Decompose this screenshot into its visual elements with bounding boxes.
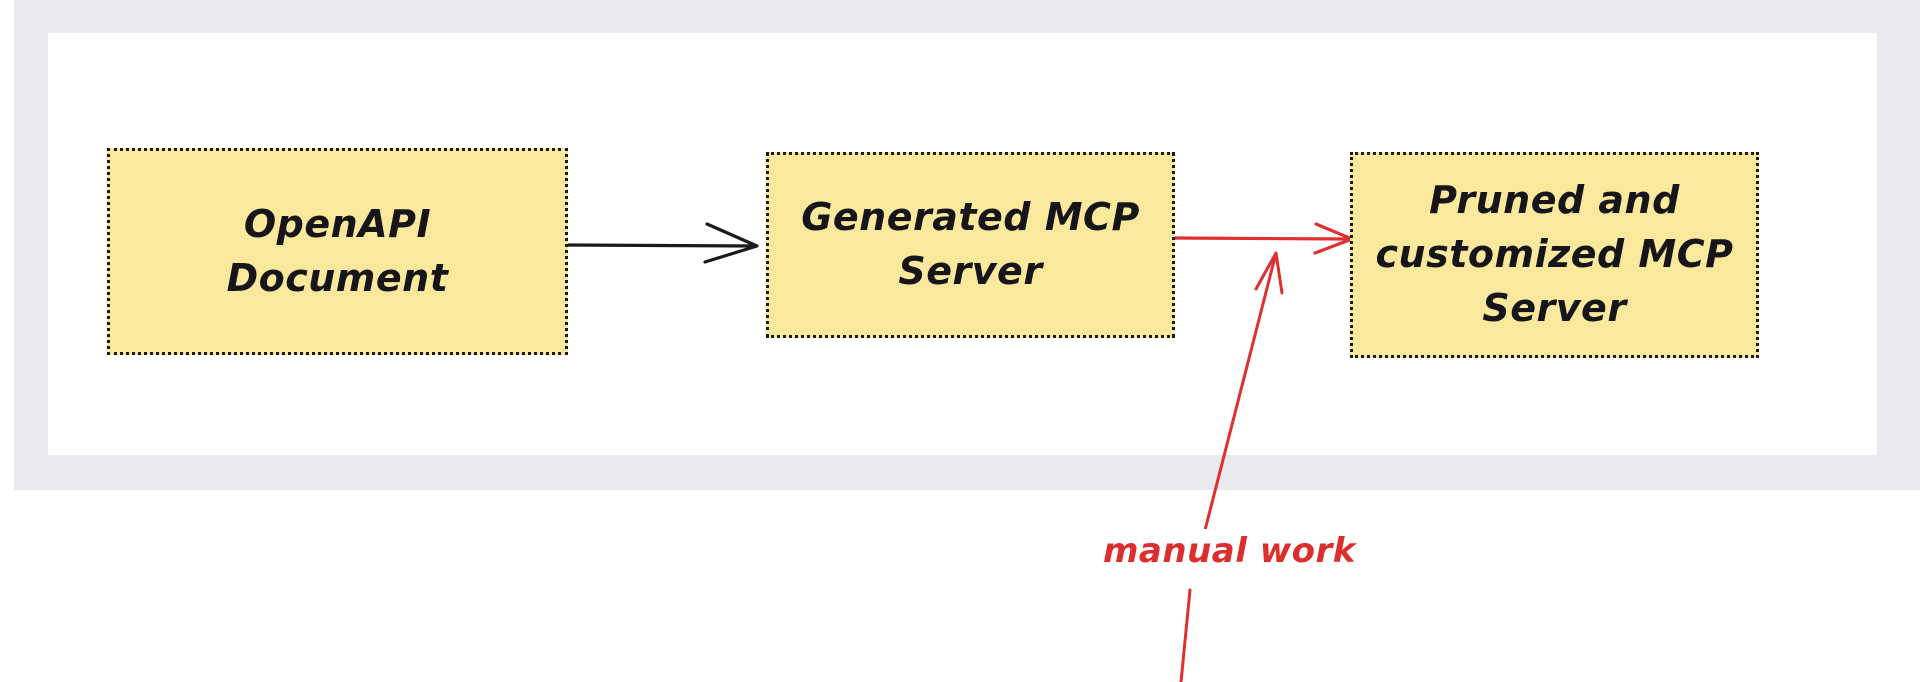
node-pruned-customized-mcp-server[interactable]: Pruned and customized MCP Server: [1350, 152, 1759, 358]
annotation-manual-work: manual work: [1097, 529, 1362, 573]
node-generated-mcp-server[interactable]: Generated MCP Server: [766, 152, 1175, 338]
edge-manual-work-pointer-lower-line: [1181, 590, 1190, 682]
node-openapi-document[interactable]: OpenAPI Document: [107, 148, 568, 355]
diagram-canvas: OpenAPI Document Generated MCP Server Pr…: [0, 0, 1920, 682]
